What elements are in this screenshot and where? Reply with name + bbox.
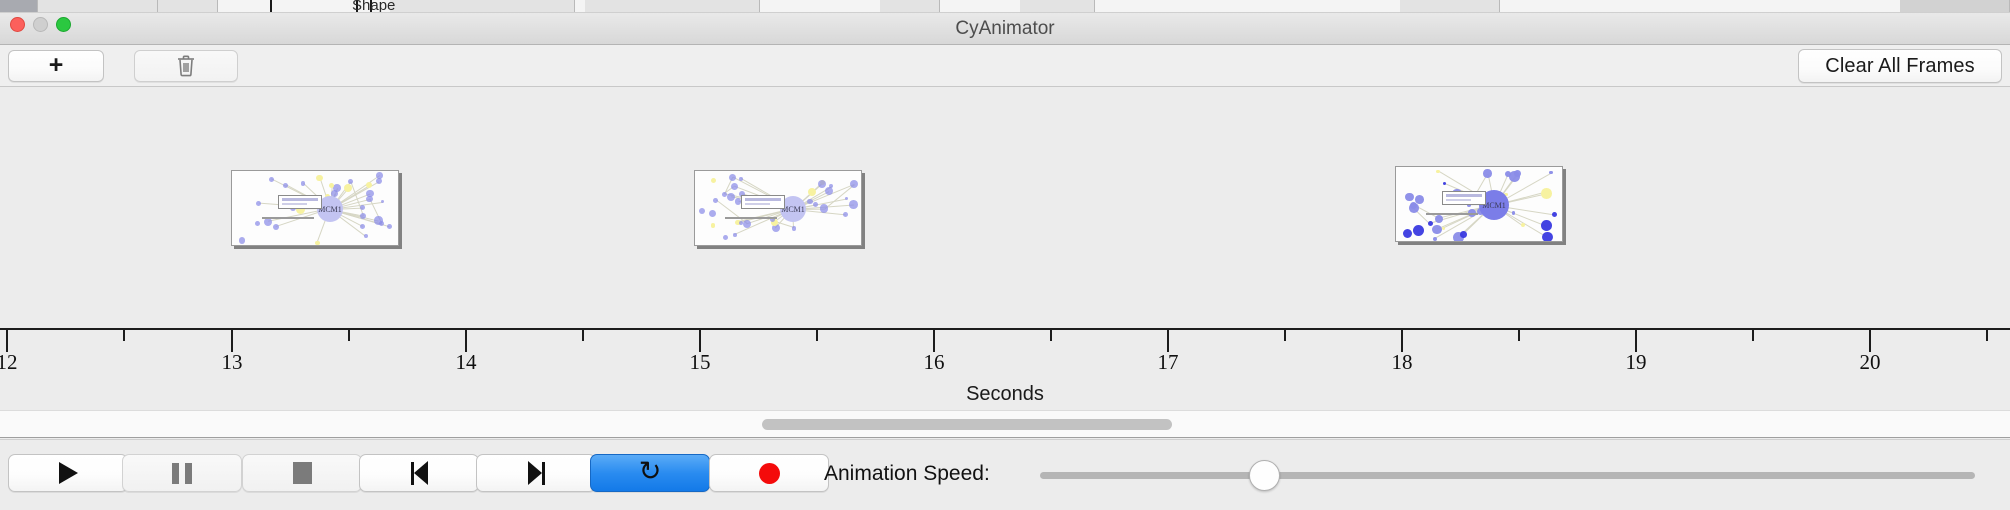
- timeline-panel[interactable]: MCM1 MCM1 MCM1 121314151617181920 Second…: [0, 88, 2010, 410]
- ruler-tick: [123, 330, 125, 341]
- stop-button[interactable]: [242, 454, 362, 492]
- ruler-tick: [348, 330, 350, 341]
- frame-thumbnail-3[interactable]: MCM1: [1395, 166, 1563, 242]
- graph-node: [792, 226, 797, 231]
- ruler-tick: [231, 330, 233, 352]
- ruler-tick-label: 16: [924, 350, 945, 375]
- ruler-tick: [465, 330, 467, 352]
- ruler-tick: [1986, 330, 1988, 341]
- graph-node: [1428, 221, 1433, 226]
- graph-node: [699, 208, 705, 214]
- skip-next-icon: [528, 461, 545, 485]
- graph-node: [711, 178, 716, 183]
- ruler-tick-label: 20: [1860, 350, 1881, 375]
- timeline-horizontal-scrollbar[interactable]: [0, 410, 2010, 438]
- graph-node: [301, 181, 305, 185]
- ruler-tick: [1869, 330, 1871, 352]
- graph-node: [1514, 170, 1521, 177]
- record-icon: [759, 463, 780, 484]
- graph-node: [256, 201, 261, 206]
- graph-node: [273, 224, 279, 230]
- next-frame-button[interactable]: [476, 454, 596, 492]
- graph-node: [1549, 171, 1552, 174]
- ruler-tick: [1635, 330, 1637, 352]
- ruler-tick: [1050, 330, 1052, 341]
- graph-node: [376, 172, 383, 179]
- bg-tick: [270, 0, 272, 13]
- ruler-tick: [1284, 330, 1286, 341]
- graph-node: [283, 183, 288, 188]
- background-window-strip: Shape: [0, 0, 2010, 13]
- ruler-tick-label: 13: [222, 350, 243, 375]
- delete-frame-button[interactable]: [134, 50, 238, 82]
- animation-speed-label: Animation Speed:: [824, 462, 990, 486]
- record-button[interactable]: [709, 454, 829, 492]
- graph-tooltip: [1442, 191, 1486, 205]
- graph-node: [1410, 202, 1417, 209]
- graph-node: [315, 241, 319, 245]
- graph-node: [376, 178, 382, 184]
- ruler-tick: [816, 330, 818, 341]
- ruler-tick-label: 18: [1392, 350, 1413, 375]
- graph-node: [1542, 232, 1552, 242]
- playback-control-bar: ↻ Animation Speed:: [0, 439, 2010, 510]
- stop-icon: [293, 462, 312, 484]
- graph-node: [360, 213, 366, 219]
- graph-node: [843, 212, 848, 217]
- graph-node: [723, 235, 728, 240]
- slider-thumb[interactable]: [1249, 460, 1280, 491]
- graph-caption: [725, 217, 777, 219]
- bg-segment: [1400, 0, 1500, 13]
- slider-track: [1040, 472, 1975, 479]
- ruler-tick: [6, 330, 8, 352]
- graph-node: [818, 180, 826, 188]
- graph-node: [743, 220, 751, 228]
- ruler-tick-label: 19: [1626, 350, 1647, 375]
- graph-node: [344, 184, 353, 193]
- graph-node: [239, 237, 246, 244]
- graph-node: [845, 197, 848, 200]
- ruler-tick: [933, 330, 935, 352]
- ruler-tick: [1518, 330, 1520, 341]
- graph-tooltip: [741, 195, 785, 209]
- graph-node: [1541, 188, 1552, 199]
- play-button[interactable]: [8, 454, 128, 492]
- animation-speed-slider[interactable]: [1040, 466, 1975, 486]
- graph-node: [849, 200, 858, 209]
- clear-all-frames-button[interactable]: Clear All Frames: [1798, 49, 2002, 83]
- graph-node: [1443, 182, 1446, 185]
- ruler-tick: [1401, 330, 1403, 352]
- graph-node: [1521, 223, 1525, 227]
- graph-node: [711, 223, 715, 227]
- frame-thumbnail-2[interactable]: MCM1: [694, 170, 862, 246]
- graph-node: [1512, 211, 1516, 215]
- frame-thumbnail-1[interactable]: MCM1: [231, 170, 399, 246]
- clear-all-frames-label: Clear All Frames: [1825, 55, 1974, 78]
- bg-segment: [390, 0, 575, 13]
- play-icon: [59, 462, 78, 484]
- ruler-tick: [699, 330, 701, 352]
- graph-node: [269, 177, 274, 182]
- graph-node: [729, 174, 737, 182]
- ruler-tick-label: 12: [0, 350, 18, 375]
- graph-node: [1435, 215, 1443, 223]
- graph-node: [1432, 225, 1441, 234]
- graph-node: [1436, 170, 1439, 173]
- pause-button[interactable]: [122, 454, 242, 492]
- graph-caption: [1426, 213, 1478, 215]
- graph-node: [348, 179, 353, 184]
- ruler-tick: [582, 330, 584, 341]
- graph-node: [1442, 227, 1445, 230]
- graph-node: [807, 199, 813, 205]
- network-graph: MCM1: [1396, 167, 1562, 241]
- ruler-unit-label: Seconds: [0, 383, 2010, 406]
- graph-node: [813, 202, 818, 207]
- bg-segment: [38, 0, 158, 13]
- graph-node: [316, 175, 323, 182]
- graph-node: [727, 193, 735, 201]
- network-graph: MCM1: [232, 171, 398, 245]
- add-frame-button[interactable]: +: [8, 50, 104, 82]
- timeline-ruler: 121314151617181920 Seconds: [0, 328, 2010, 410]
- graph-node: [1403, 229, 1412, 238]
- ruler-tick: [1167, 330, 1169, 352]
- graph-node: [733, 233, 736, 236]
- bg-window-label: Shape: [352, 0, 395, 13]
- skip-previous-icon: [411, 461, 428, 485]
- graph-node: [829, 184, 833, 188]
- ruler-axis-line: [0, 328, 2010, 330]
- bg-segment: [1900, 0, 2010, 13]
- bg-segment: [1020, 0, 1095, 13]
- graph-node: [1541, 220, 1552, 231]
- window-title: CyAnimator: [0, 13, 2010, 45]
- graph-node: [713, 198, 718, 203]
- graph-node: [1483, 169, 1491, 177]
- bg-segment: [585, 0, 760, 13]
- loop-icon: ↻: [639, 458, 662, 485]
- graph-node: [1413, 225, 1424, 236]
- loop-button[interactable]: ↻: [590, 454, 710, 492]
- graph-tooltip: [278, 195, 322, 209]
- ruler-tick-label: 15: [690, 350, 711, 375]
- graph-node: [360, 205, 365, 210]
- graph-caption: [262, 217, 314, 219]
- ruler-tick-label: 17: [1158, 350, 1179, 375]
- graph-node: [731, 183, 738, 190]
- graph-node: [374, 216, 382, 224]
- graph-node: [255, 221, 260, 226]
- ruler-tick: [1752, 330, 1754, 341]
- plus-icon: +: [49, 53, 64, 78]
- graph-node: [364, 234, 368, 238]
- graph-node: [387, 224, 392, 229]
- bg-segment: [0, 0, 38, 13]
- graph-node: [1460, 231, 1467, 238]
- graph-node: [264, 218, 272, 226]
- graph-node: [739, 177, 743, 181]
- graph-node: [850, 180, 858, 188]
- bg-segment: [880, 0, 940, 13]
- trash-icon: [176, 54, 196, 78]
- pause-icon: [172, 463, 192, 484]
- graph-node: [709, 210, 716, 217]
- scrollbar-thumb[interactable]: [762, 419, 1172, 430]
- network-graph: MCM1: [695, 171, 861, 245]
- graph-node: [366, 190, 373, 197]
- previous-frame-button[interactable]: [359, 454, 479, 492]
- graph-node: [1405, 193, 1414, 202]
- ruler-tick-label: 14: [456, 350, 477, 375]
- graph-node: [1552, 212, 1557, 217]
- graph-node: [366, 182, 372, 188]
- frame-toolbar: + Clear All Frames: [0, 45, 2010, 87]
- bg-segment: [158, 0, 218, 13]
- graph-node: [360, 224, 365, 229]
- window-title-bar: CyAnimator: [0, 13, 2010, 45]
